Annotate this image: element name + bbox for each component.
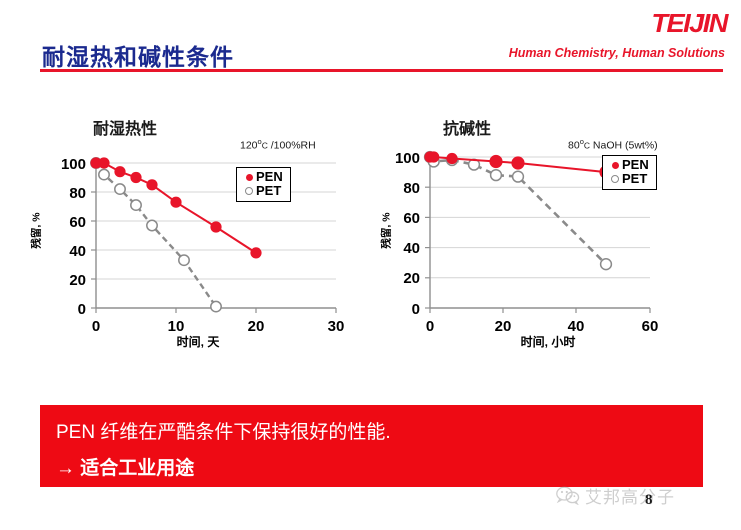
svg-text:20: 20 bbox=[69, 272, 86, 289]
legend-item-pen: PEN bbox=[242, 170, 283, 184]
svg-text:60: 60 bbox=[69, 214, 86, 231]
legend-item-pet: PET bbox=[608, 172, 649, 186]
x-tick-marks bbox=[430, 308, 650, 313]
brand-tagline: Human Chemistry, Human Solutions bbox=[509, 46, 725, 60]
svg-text:100: 100 bbox=[395, 150, 420, 167]
page-number: 8 bbox=[645, 492, 653, 509]
conclusion-banner: PEN 纤维在严酷条件下保持很好的性能. → 适合工业用途 bbox=[40, 405, 703, 487]
open-circle-icon bbox=[608, 172, 622, 186]
open-circle-icon bbox=[242, 184, 256, 198]
svg-text:20: 20 bbox=[403, 270, 420, 287]
chart-legend[interactable]: PEN PET bbox=[236, 167, 291, 202]
legend-label-pen: PEN bbox=[622, 158, 649, 172]
teijin-logo: TEIJIN bbox=[651, 10, 727, 36]
filled-circle-icon bbox=[242, 170, 256, 184]
x-axis-label: 时间, 小时 bbox=[428, 333, 668, 350]
svg-text:60: 60 bbox=[403, 210, 420, 227]
wechat-icon bbox=[556, 486, 580, 505]
svg-text:0: 0 bbox=[412, 301, 420, 318]
legend-label-pen: PEN bbox=[256, 170, 283, 184]
svg-text:30: 30 bbox=[328, 318, 345, 335]
svg-text:40: 40 bbox=[403, 240, 420, 257]
conclusion-line-2: → 适合工业用途 bbox=[56, 453, 194, 480]
slide-header: TEIJIN 耐湿热和碱性条件 Human Chemistry, Human S… bbox=[0, 0, 741, 80]
page-title: 耐湿热和碱性条件 bbox=[42, 38, 234, 72]
chart-legend[interactable]: PEN PET bbox=[602, 155, 657, 190]
svg-text:80: 80 bbox=[69, 185, 86, 202]
svg-text:80: 80 bbox=[403, 180, 420, 197]
svg-text:100: 100 bbox=[61, 156, 86, 173]
chart-humid-heat-resistance: 耐湿热性 120oC /100%RH 残留, % bbox=[18, 105, 368, 365]
legend-label-pet: PET bbox=[256, 184, 281, 198]
chart-alkali-resistance: 抗碱性 80oC NaOH (5wt%) 残留, % 10 bbox=[368, 105, 718, 365]
conclusion-line-1: PEN 纤维在严酷条件下保持很好的性能. bbox=[56, 417, 391, 444]
y-tick-labels: 100 80 60 40 20 0 bbox=[61, 156, 86, 318]
legend-label-pet: PET bbox=[622, 172, 647, 186]
filled-circle-icon bbox=[608, 158, 622, 172]
x-axis-label: 时间, 天 bbox=[78, 333, 318, 350]
legend-item-pen: PEN bbox=[608, 158, 649, 172]
legend-item-pet: PET bbox=[242, 184, 283, 198]
chart-plot-area: 100 80 60 40 20 0 0 10 20 30 bbox=[18, 105, 368, 365]
chart-plot-area: 100 80 60 40 20 0 0 20 40 60 bbox=[368, 105, 718, 365]
y-tick-marks bbox=[425, 157, 430, 308]
svg-text:0: 0 bbox=[78, 301, 86, 318]
svg-text:40: 40 bbox=[69, 243, 86, 260]
header-divider bbox=[40, 69, 723, 72]
y-tick-marks bbox=[91, 163, 96, 308]
y-tick-labels: 100 80 60 40 20 0 bbox=[395, 150, 420, 318]
